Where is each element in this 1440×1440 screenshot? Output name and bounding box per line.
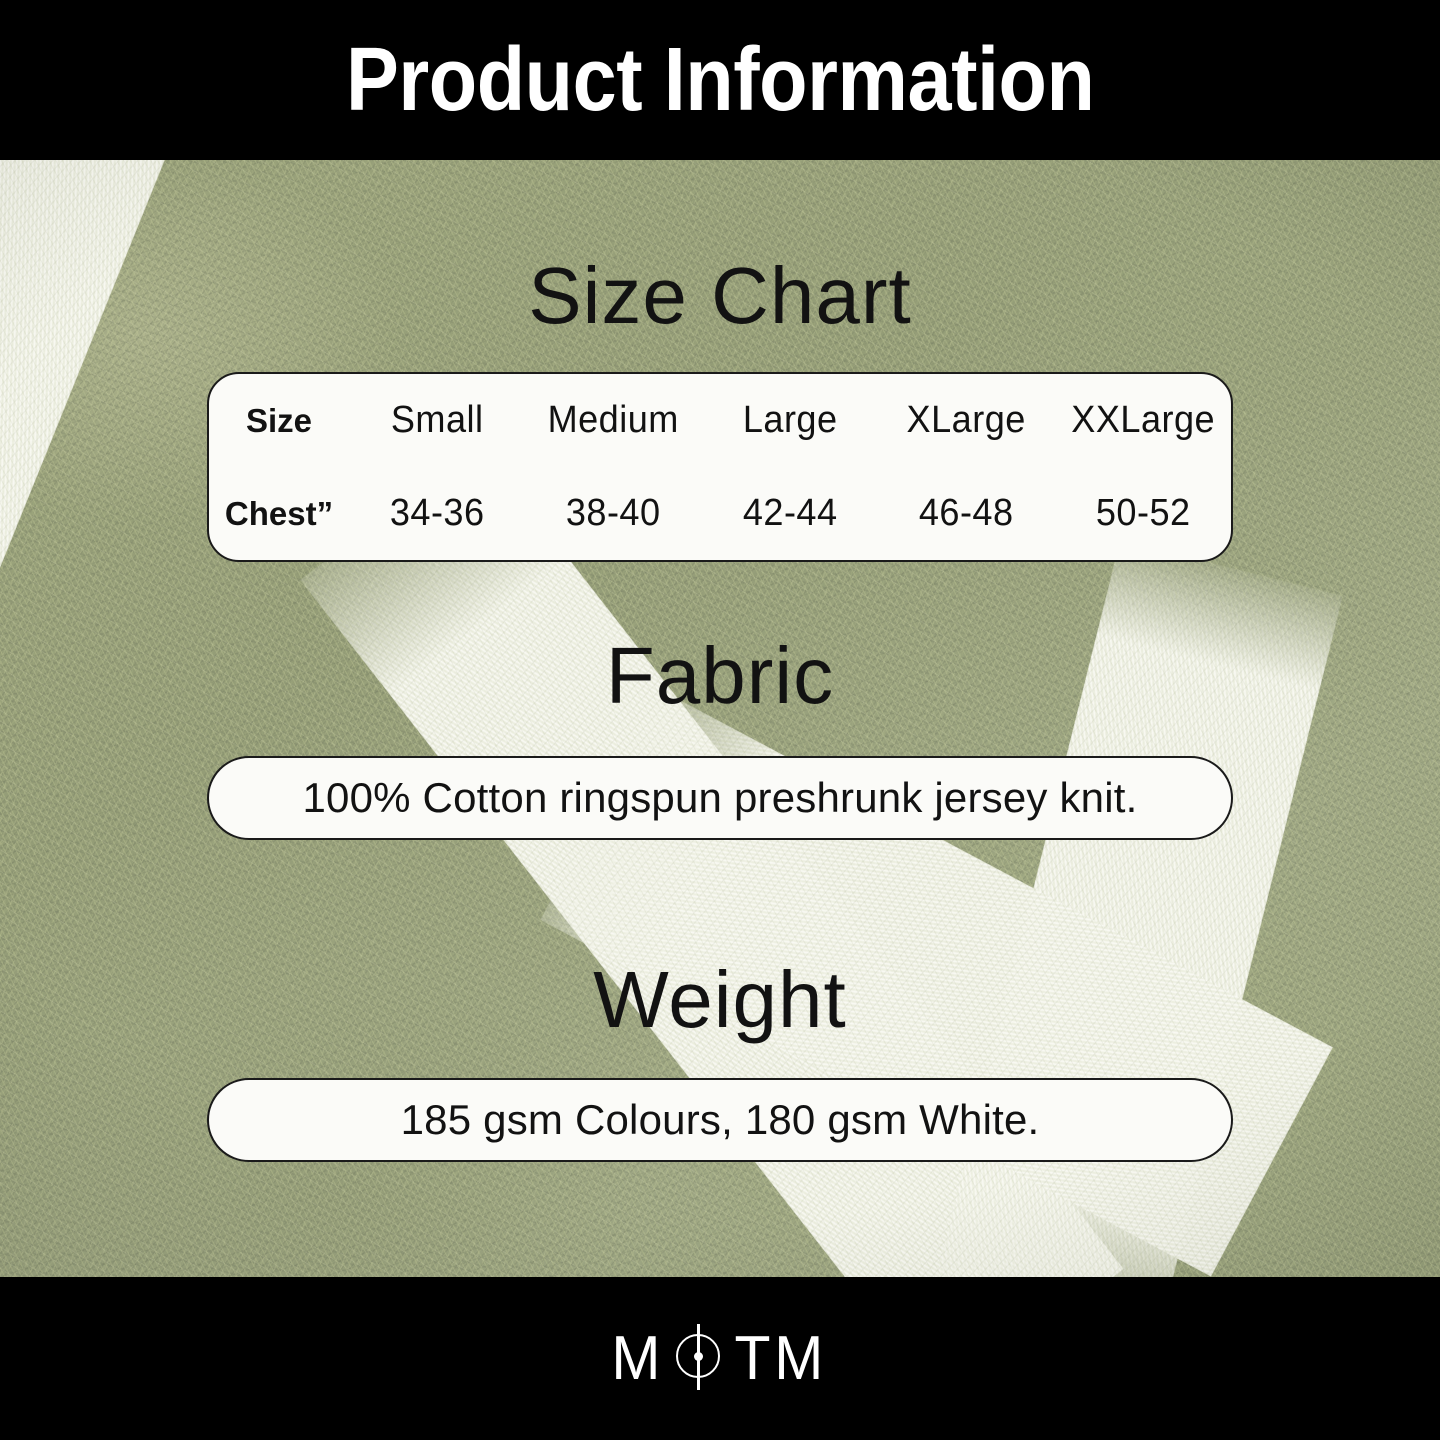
size-cell-large: Large bbox=[706, 374, 874, 467]
chest-cell-large: 42-44 bbox=[706, 467, 874, 560]
size-cell-xlarge: XLarge bbox=[883, 374, 1051, 467]
size-cell-xxlarge: XXLarge bbox=[1059, 374, 1227, 467]
logo-letters-after: TM bbox=[735, 1328, 828, 1390]
motm-logo[interactable]: M TM bbox=[610, 1324, 829, 1394]
circle-line-dot-icon bbox=[672, 1324, 726, 1394]
section-heading-weight: Weight bbox=[0, 960, 1440, 1040]
footer-bar: M TM bbox=[0, 1277, 1440, 1440]
section-heading-fabric: Fabric bbox=[0, 636, 1440, 716]
chest-cell-xxlarge: 50-52 bbox=[1059, 467, 1227, 560]
header-bar: Product Information bbox=[0, 0, 1440, 160]
size-chart-card: Size Small Medium Large XLarge XXLarge C… bbox=[207, 372, 1233, 562]
table-row: Chest” 34-36 38-40 42-44 46-48 50-52 bbox=[209, 467, 1231, 560]
logo-center-dot bbox=[694, 1352, 703, 1361]
product-information-graphic: Product Information Size Chart Size Smal… bbox=[0, 0, 1440, 1440]
size-cell-medium: Medium bbox=[530, 374, 698, 467]
page-title: Product Information bbox=[346, 35, 1094, 125]
chest-cell-small: 34-36 bbox=[353, 467, 521, 560]
size-cell-small: Small bbox=[353, 374, 521, 467]
table-row: Size Small Medium Large XLarge XXLarge bbox=[209, 374, 1231, 467]
weight-value-pill: 185 gsm Colours, 180 gsm White. bbox=[207, 1078, 1233, 1162]
size-chart-table: Size Small Medium Large XLarge XXLarge C… bbox=[209, 374, 1231, 560]
chest-cell-xlarge: 46-48 bbox=[883, 467, 1051, 560]
main-content: Size Chart Size Small Medium Large XLarg… bbox=[0, 160, 1440, 1277]
chest-cell-medium: 38-40 bbox=[530, 467, 698, 560]
row-header-size: Size bbox=[209, 374, 349, 467]
fabric-value-pill: 100% Cotton ringspun preshrunk jersey kn… bbox=[207, 756, 1233, 840]
row-header-chest: Chest” bbox=[209, 467, 349, 560]
section-heading-size-chart: Size Chart bbox=[0, 256, 1440, 336]
logo-letters-before: M bbox=[612, 1328, 665, 1390]
